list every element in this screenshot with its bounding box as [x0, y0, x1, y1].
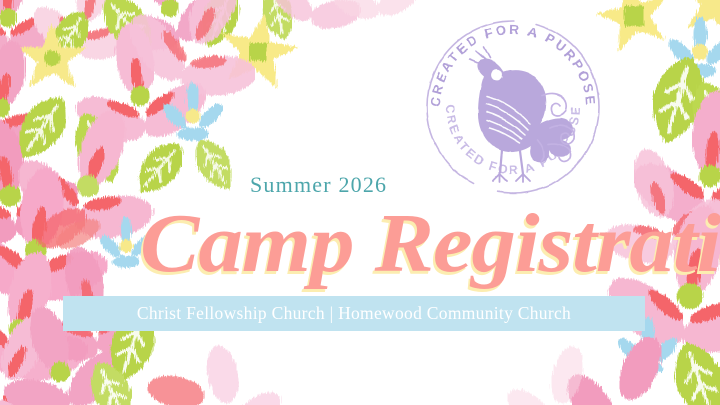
subtitle-banner-text: Christ Fellowship Church | Homewood Comm…: [63, 296, 645, 331]
headline-block: Summer 2026 Camp Registration Christ Fel…: [0, 0, 720, 405]
page-title: Camp Registration: [140, 198, 720, 290]
flyer-canvas: CREATED FOR A PURPOSE CREATED FOR A PURP…: [0, 0, 720, 405]
eyebrow-season-text: Summer 2026: [250, 172, 387, 198]
